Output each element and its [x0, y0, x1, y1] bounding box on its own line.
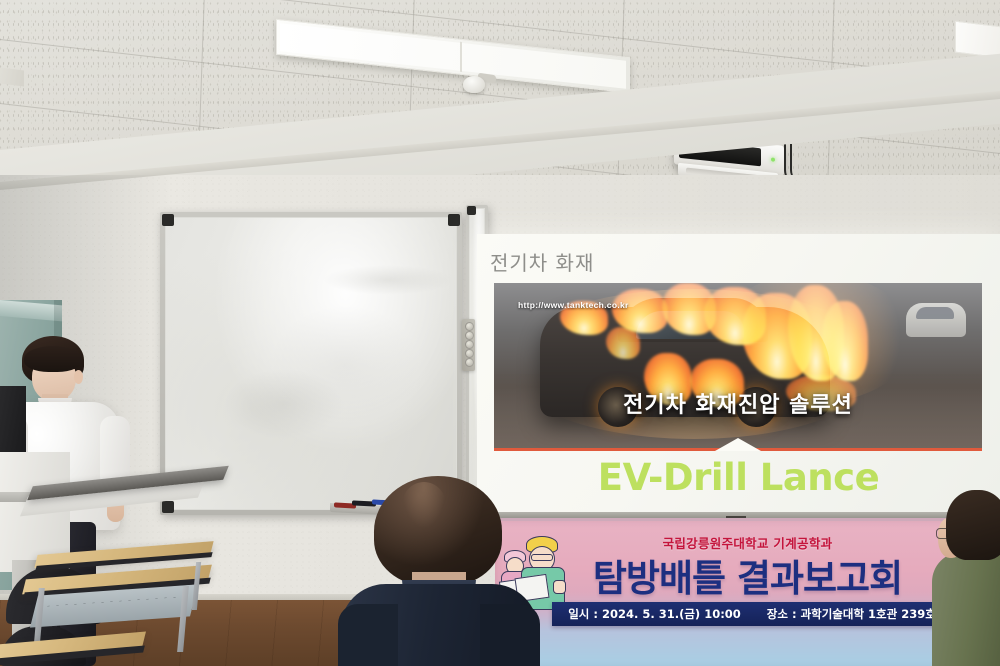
control-brightness-icon[interactable] — [465, 331, 474, 340]
whiteboard-corner-cap — [162, 214, 174, 226]
banner-info-bar: 일시 : 2024. 5. 31.(금) 10:00 장소 : 과학기술대학 1… — [552, 602, 952, 626]
projector-status-led-icon — [771, 157, 775, 161]
presenter-fringe — [24, 346, 82, 372]
control-source-icon[interactable] — [465, 340, 474, 349]
banner-venue-label: 장소 : 과학기술대학 1호관 239호 — [767, 606, 936, 622]
control-volume-icon[interactable] — [465, 349, 474, 358]
audience-center-hair-highlight — [402, 482, 446, 528]
slide-product-title: EV-Drill Lance — [477, 456, 1000, 499]
audience-center-shoulder-right — [480, 604, 540, 666]
photo-caption: 전기차 화재진압 솔루션 — [494, 387, 982, 419]
control-menu-icon[interactable] — [465, 358, 474, 367]
whiteboard-corner-cap — [162, 501, 174, 513]
audience-right-hair — [946, 490, 1000, 560]
whiteboard-surface[interactable] — [165, 217, 457, 510]
audience-member-center — [340, 476, 538, 666]
banner-headline: 탐방배틀 결과보고회 — [495, 548, 1000, 602]
audience-center-shoulder-left — [338, 604, 398, 666]
event-banner: 국립강릉원주대학교 기계공학과 탐방배틀 결과보고회 일시 : 2024. 5.… — [495, 518, 1000, 666]
wall-control-panel[interactable] — [462, 319, 475, 371]
projected-slide: 전기차 화재 http: — [477, 234, 1000, 514]
audience-right-olive-top — [932, 552, 1000, 666]
whiteboard-corner-cap — [448, 214, 460, 226]
classroom-presentation-scene: 전기차 화재 http: — [0, 0, 1000, 666]
presenter-ear — [74, 370, 83, 384]
slide-title: 전기차 화재 — [490, 247, 594, 276]
podium-equipment — [0, 386, 26, 458]
banner-date-label: 일시 : 2024. 5. 31.(금) 10:00 — [568, 606, 741, 622]
whiteboard-corner-cap — [467, 206, 476, 215]
photo-watermark-url: http://www.tanktech.co.kr — [518, 300, 629, 310]
audience-member-right — [936, 490, 1000, 666]
control-power-icon[interactable] — [465, 322, 474, 331]
background-car — [906, 303, 966, 337]
ceiling-sensor-icon — [463, 76, 485, 93]
slide-photo-burning-ev: http://www.tanktech.co.kr 전기차 화재진압 솔루션 — [494, 283, 982, 451]
